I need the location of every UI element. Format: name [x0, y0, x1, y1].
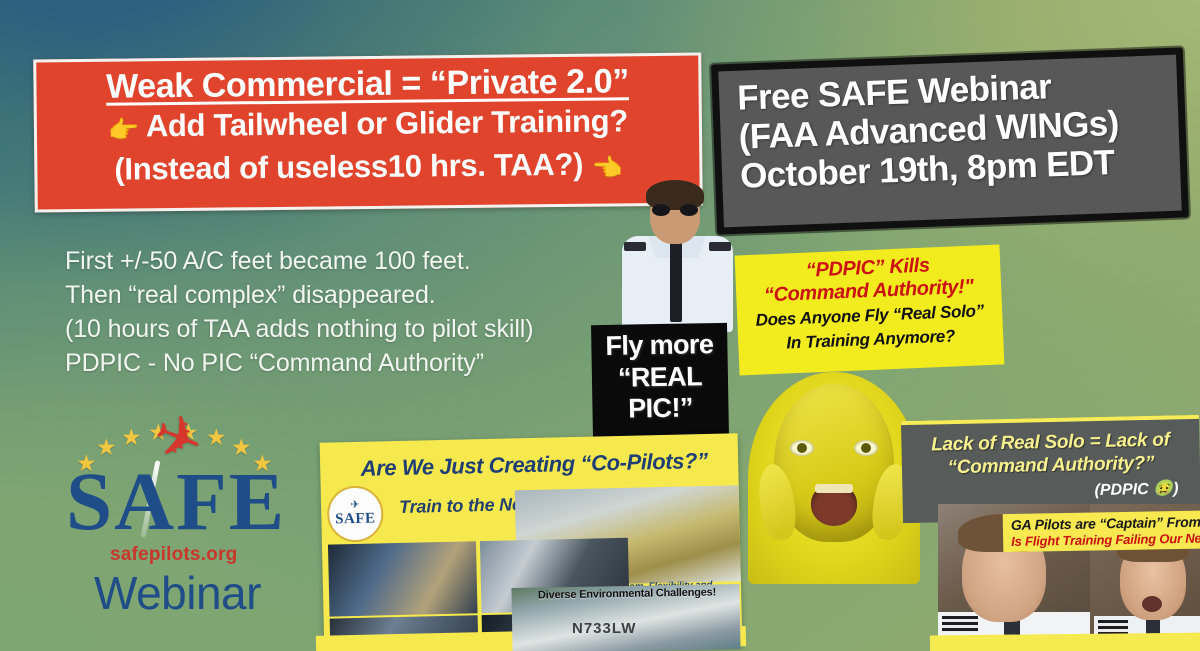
pilot-epaulette-right	[709, 242, 731, 251]
safe-badge-logo: ✈ SAFE	[327, 485, 384, 542]
fly-pic-line-1: Fly more	[591, 329, 728, 363]
fly-pic-line-2: “REAL	[592, 360, 729, 394]
star-icon: ★	[121, 426, 142, 449]
safe-wordmark: SAFE	[66, 460, 316, 543]
aircraft-tail-number: N733LW	[572, 620, 636, 637]
headline-line-1: Weak Commercial = “Private 2.0”	[44, 61, 690, 108]
sunglasses-icon	[651, 204, 699, 216]
pilot-b-mouth	[1142, 596, 1162, 612]
scream-eye-right	[854, 440, 878, 456]
headline-line-2: 👉 Add Tailwheel or Glider Training?	[45, 101, 691, 148]
pilot-epaulette-left	[624, 242, 646, 251]
body-line-3: (10 hours of TAA adds nothing to pilot s…	[65, 312, 625, 346]
co-pilots-title: Are We Just Creating “Co-Pilots?”	[334, 447, 734, 482]
pdpic-kills-box: “PDPIC” Kills “Command Authority!" Does …	[735, 245, 1005, 376]
ga-banner-line-1: GA Pilots are “Captain” From	[1011, 513, 1200, 533]
headline-line-3-text: (Instead of useless10 hrs. TAA?)	[114, 146, 583, 186]
pilot-b-epaulette	[1098, 620, 1128, 634]
badge-wordmark: SAFE	[335, 511, 376, 529]
pointing-right-hand-icon: 👉	[108, 117, 139, 145]
poster-canvas: Weak Commercial = “Private 2.0” 👉 Add Ta…	[0, 0, 1200, 651]
thumbnail-bottom-edge	[930, 633, 1200, 651]
fly-pic-line-3: PIC!”	[592, 392, 729, 426]
pilot-a-epaulette-left	[942, 616, 978, 632]
fly-more-real-pic-box: Fly more “REAL PIC!”	[591, 323, 729, 439]
headline-line-3: (Instead of useless10 hrs. TAA?) 👈	[45, 143, 691, 190]
scream-eye-left	[790, 440, 814, 456]
headline-line-2-text: Add Tailwheel or Glider Training?	[146, 103, 628, 143]
solo-pdpic-note: (PDPIC 🤢)	[912, 478, 1190, 504]
pilot-necktie	[670, 240, 682, 322]
safe-website-url: safepilots.org	[110, 544, 237, 566]
body-line-1: First +/-50 A/C feet became 100 feet.	[65, 244, 625, 278]
body-line-2: Then “real complex” disappeared.	[65, 278, 625, 312]
solo-line-2: “Command Authority?”	[912, 451, 1190, 480]
pointing-left-hand-icon: 👈	[591, 154, 622, 182]
webinar-info-box: Free SAFE Webinar (FAA Advanced WINGs) O…	[711, 47, 1189, 234]
scream-teeth	[815, 484, 853, 493]
screaming-face-image	[748, 372, 920, 584]
cockpit-photo-1	[328, 541, 478, 616]
safe-webinar-label: Webinar	[94, 566, 261, 620]
young-pilot-cutout	[620, 180, 735, 330]
headline-banner: Weak Commercial = “Private 2.0” 👉 Add Ta…	[33, 53, 703, 213]
badge-plane-icon: ✈	[350, 500, 359, 511]
ga-banner-line-2: Is Flight Training Failing Our Ne	[1011, 530, 1200, 549]
ga-pilots-banner: GA Pilots are “Captain” From Is Flight T…	[1003, 510, 1200, 552]
star-icon: ★	[206, 426, 227, 449]
body-line-4: PDPIC - No PIC “Command Authority”	[65, 346, 625, 380]
body-text-block: First +/-50 A/C feet became 100 feet. Th…	[65, 244, 625, 380]
